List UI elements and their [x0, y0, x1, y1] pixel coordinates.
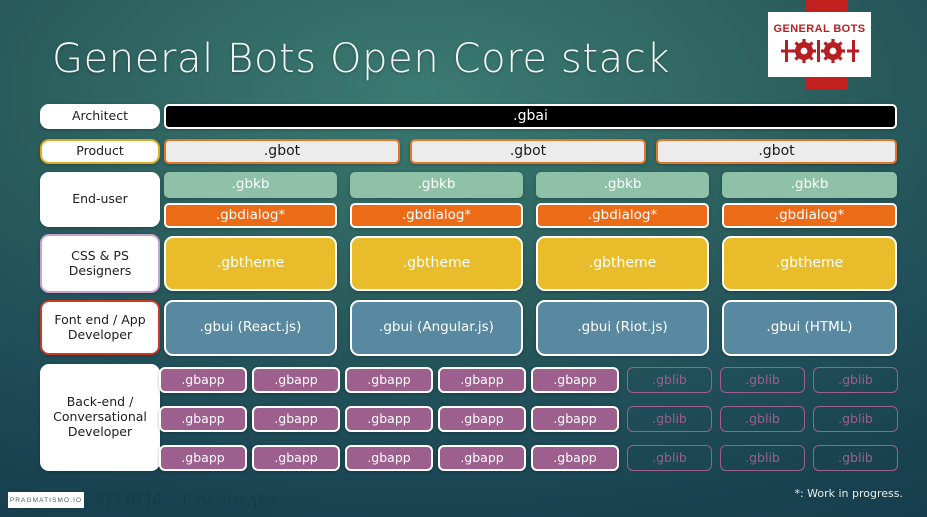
stack-box-gbkb[interactable]: .gbkb	[536, 172, 709, 198]
footnote-work-in-progress: *: Work in progress.	[794, 487, 903, 500]
stack-box-gbui-angular[interactable]: .gbui (Angular.js)	[350, 300, 523, 356]
stack-box-gbapp[interactable]: .gbapp	[531, 367, 619, 393]
sidebar-item-css-ps-designers[interactable]: CSS & PS Designers	[40, 234, 160, 293]
stack-box-gbot[interactable]: .gbot	[410, 139, 646, 164]
sidebar-item-end-user[interactable]: End-user	[40, 172, 160, 227]
pragmatismo-wordmark: PRAGMATISMO.IO	[10, 497, 82, 504]
stack-box-gbdialog[interactable]: .gbdialog*	[350, 203, 523, 228]
stack-box-gbui-riot[interactable]: .gbui (Riot.js)	[536, 300, 709, 356]
stack-box-gbdialog[interactable]: .gbdialog*	[164, 203, 337, 228]
footer-caption: 2018Q4 - Corporate	[88, 490, 277, 512]
sidebar-item-back-end-conversational-developer[interactable]: Back-end / Conversational Developer	[40, 364, 160, 471]
page-title: General Bots Open Core stack	[52, 36, 670, 82]
stack-box-gblib[interactable]: .gblib	[813, 367, 898, 393]
stack-box-gbapp[interactable]: .gbapp	[252, 406, 340, 432]
stack-box-gblib[interactable]: .gblib	[720, 445, 805, 471]
logo-wordmark: GENERAL BOTS	[774, 23, 866, 35]
stack-box-gbkb[interactable]: .gbkb	[164, 172, 337, 198]
stack-box-gbapp[interactable]: .gbapp	[159, 445, 247, 471]
sidebar-item-product[interactable]: Product	[40, 139, 160, 164]
slide-canvas: GENERAL BOTS	[0, 0, 927, 517]
stack-box-gblib[interactable]: .gblib	[627, 406, 712, 432]
stack-box-gbot[interactable]: .gbot	[164, 139, 400, 164]
stack-box-gbapp[interactable]: .gbapp	[345, 367, 433, 393]
stack-box-gbtheme[interactable]: .gbtheme	[164, 236, 337, 291]
stack-box-gblib[interactable]: .gblib	[627, 367, 712, 393]
pragmatismo-logo: PRAGMATISMO.IO	[8, 492, 84, 508]
stack-box-gbdialog[interactable]: .gbdialog*	[722, 203, 897, 228]
general-bots-logo: GENERAL BOTS	[768, 12, 871, 77]
stack-box-gbkb[interactable]: .gbkb	[722, 172, 897, 198]
stack-box-gblib[interactable]: .gblib	[813, 445, 898, 471]
stack-box-gbui-react[interactable]: .gbui (React.js)	[164, 300, 337, 356]
stack-box-gblib[interactable]: .gblib	[627, 445, 712, 471]
stack-box-gbapp[interactable]: .gbapp	[252, 445, 340, 471]
stack-box-gbtheme[interactable]: .gbtheme	[722, 236, 897, 291]
stack-box-gbapp[interactable]: .gbapp	[531, 445, 619, 471]
sidebar-item-front-end-app-developer[interactable]: Font end / App Developer	[40, 300, 160, 355]
stack-box-gbapp[interactable]: .gbapp	[345, 406, 433, 432]
stack-box-gblib[interactable]: .gblib	[720, 406, 805, 432]
stack-box-gbapp[interactable]: .gbapp	[252, 367, 340, 393]
stack-box-gbapp[interactable]: .gbapp	[345, 445, 433, 471]
sidebar-item-architect[interactable]: Architect	[40, 104, 160, 129]
stack-box-gbai[interactable]: .gbai	[164, 104, 897, 129]
stack-box-gbdialog[interactable]: .gbdialog*	[536, 203, 709, 228]
stack-box-gbapp[interactable]: .gbapp	[531, 406, 619, 432]
gears-icon	[781, 36, 859, 66]
stack-box-gbapp[interactable]: .gbapp	[438, 406, 526, 432]
stack-box-gbot[interactable]: .gbot	[656, 139, 897, 164]
stack-box-gbui-html[interactable]: .gbui (HTML)	[722, 300, 897, 356]
stack-box-gbapp[interactable]: .gbapp	[159, 367, 247, 393]
stack-box-gbapp[interactable]: .gbapp	[159, 406, 247, 432]
stack-box-gblib[interactable]: .gblib	[813, 406, 898, 432]
stack-box-gbkb[interactable]: .gbkb	[350, 172, 523, 198]
stack-box-gblib[interactable]: .gblib	[720, 367, 805, 393]
stack-box-gbtheme[interactable]: .gbtheme	[350, 236, 523, 291]
stack-box-gbapp[interactable]: .gbapp	[438, 445, 526, 471]
stack-box-gbtheme[interactable]: .gbtheme	[536, 236, 709, 291]
stack-box-gbapp[interactable]: .gbapp	[438, 367, 526, 393]
